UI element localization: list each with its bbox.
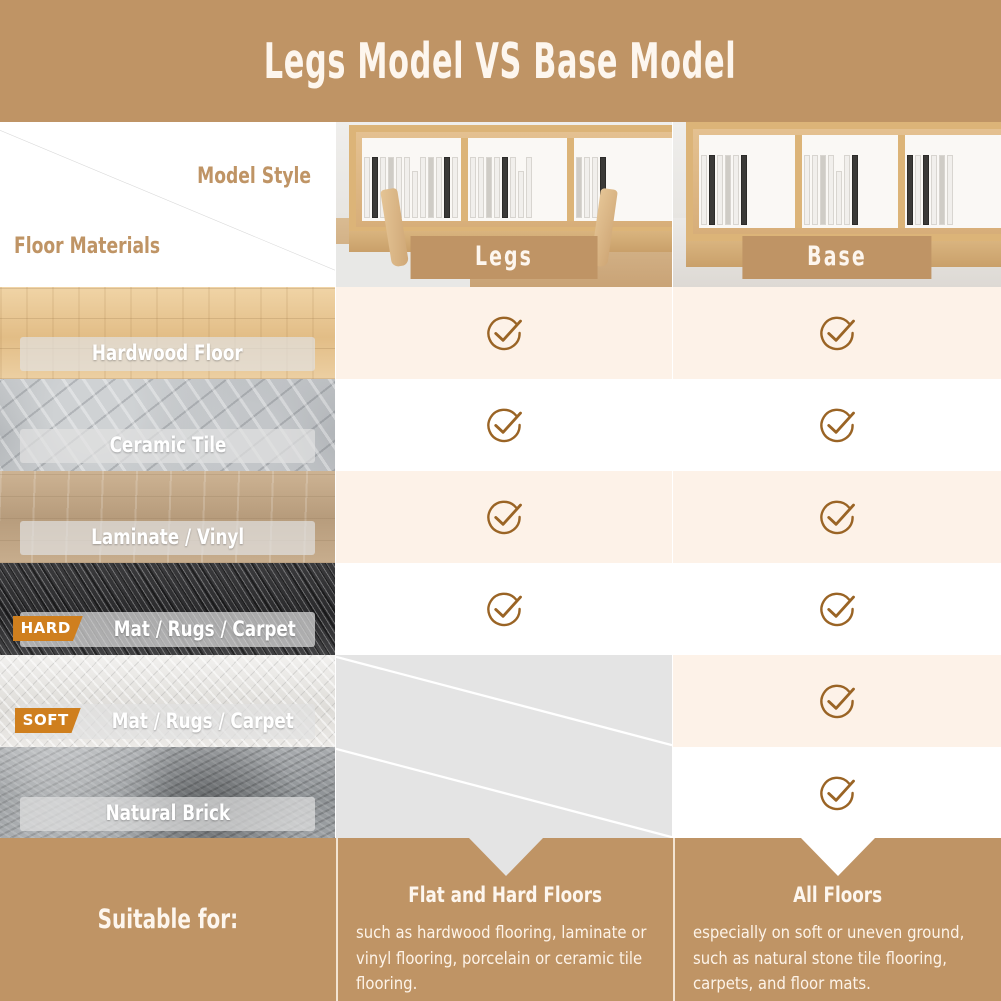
footer-legs-body: such as hardwood flooring, laminate or v… [356,920,655,997]
cell-legs-laminate-vinyl [336,471,672,563]
unavailable-slash-icon [336,747,672,839]
material-label-banner: HARDMat / Rugs / Carpet [20,612,315,647]
floor-materials-label: Floor Materials [14,234,160,259]
cell-legs-hardwood-floor [336,287,672,379]
model-style-label: Model Style [197,164,311,189]
cell-legs-ceramic-tile [336,379,672,471]
footer-legs-cell: Flat and Hard Floors such as hardwood fl… [336,838,673,1001]
material-label-text: Hardwood Floor [92,341,243,365]
check-circle-icon [482,587,526,631]
material-label-banner: Laminate / Vinyl [20,521,315,555]
material-cell-soft-mat-rugs-carpet: SOFTMat / Rugs / Carpet [0,655,335,747]
material-label-banner: Hardwood Floor [20,337,315,371]
material-label-text: Natural Brick [105,801,230,825]
cell-legs-soft-mat-rugs-carpet [336,655,672,747]
material-cell-natural-brick: Natural Brick [0,747,335,839]
check-circle-icon [815,679,859,723]
material-label-text: Mat / Rugs / Carpet [114,617,296,641]
material-label-text: Laminate / Vinyl [91,525,244,549]
cell-base-laminate-vinyl [673,471,1001,563]
cell-legs-natural-brick [336,747,672,839]
material-cell-hard-mat-rugs-carpet: HARDMat / Rugs / Carpet [0,563,335,655]
title-banner: Legs Model VS Base Model [0,0,1001,122]
legs-pointer-icon [469,838,543,876]
check-circle-icon [815,771,859,815]
cell-base-hardwood-floor [673,287,1001,379]
check-circle-icon [815,587,859,631]
material-cell-laminate-vinyl: Laminate / Vinyl [0,471,335,563]
cell-base-soft-mat-rugs-carpet [673,655,1001,747]
check-circle-icon [815,403,859,447]
suitable-for-label: Suitable for: [98,904,238,935]
column-header-base: Base [742,236,931,279]
legs-photo-cell: Legs [336,122,672,287]
material-label-banner: SOFTMat / Rugs / Carpet [20,704,315,739]
check-circle-icon [815,311,859,355]
comparison-infographic: Legs Model VS Base Model Model Style Flo… [0,0,1001,1001]
cell-base-natural-brick [673,747,1001,839]
check-circle-icon [482,311,526,355]
check-circle-icon [482,495,526,539]
diagonal-divider-icon [0,122,335,287]
material-cell-hardwood-floor: Hardwood Floor [0,287,335,379]
cell-legs-hard-mat-rugs-carpet [336,563,672,655]
corner-header-cell: Model Style Floor Materials [0,122,335,287]
footer-legs-heading: Flat and Hard Floors [356,883,655,907]
material-cell-ceramic-tile: Ceramic Tile [0,379,335,471]
material-label-text: Mat / Rugs / Carpet [111,709,293,733]
firmness-tag-soft: SOFT [15,708,81,733]
footer-base-body: especially on soft or uneven ground, suc… [693,920,983,997]
suitable-for-cell: Suitable for: [0,838,336,1001]
cell-base-hard-mat-rugs-carpet [673,563,1001,655]
material-label-text: Ceramic Tile [109,433,226,457]
check-circle-icon [815,495,859,539]
page-title: Legs Model VS Base Model [264,33,736,90]
check-circle-icon [482,403,526,447]
firmness-tag-hard: HARD [13,616,83,641]
base-photo-cell: Base [673,122,1001,287]
footer-base-heading: All Floors [693,883,983,907]
material-label-banner: Ceramic Tile [20,429,315,463]
cell-base-ceramic-tile [673,379,1001,471]
base-pointer-icon [801,838,875,876]
column-header-legs: Legs [411,236,598,279]
material-label-banner: Natural Brick [20,797,315,831]
footer-base-cell: All Floors especially on soft or uneven … [673,838,1001,1001]
unavailable-slash-icon [336,655,672,747]
footer-bar: Suitable for: Flat and Hard Floors such … [0,838,1001,1001]
